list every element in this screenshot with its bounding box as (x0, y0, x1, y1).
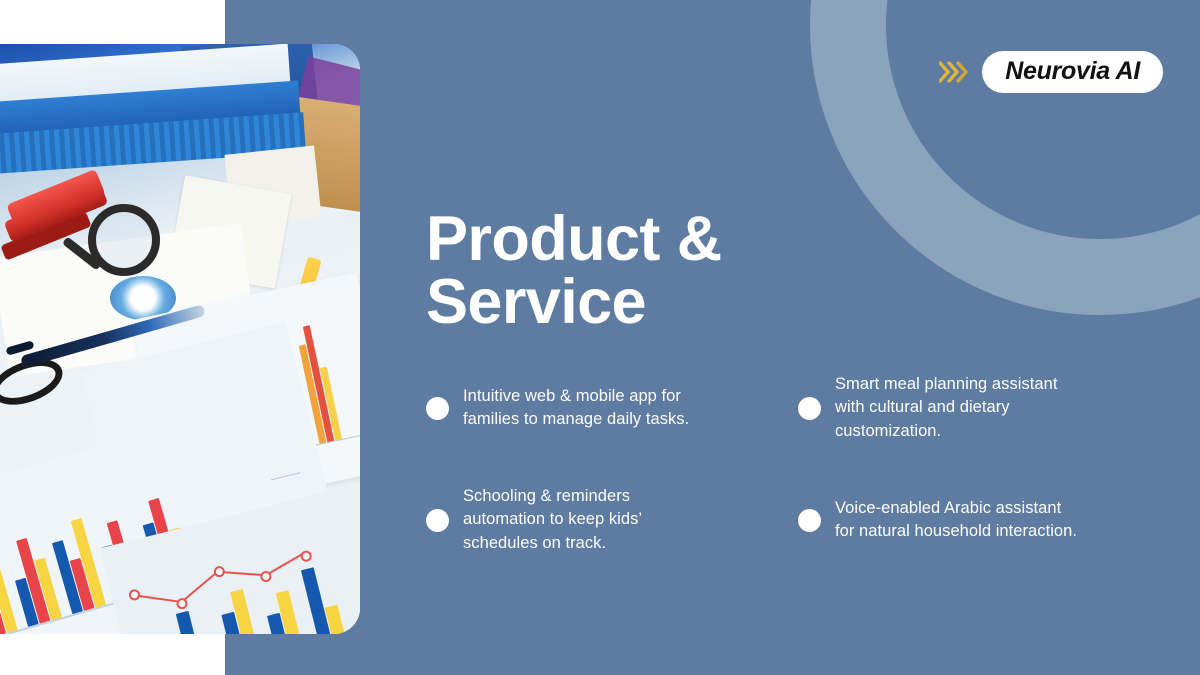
bullet-dot-icon (798, 509, 821, 532)
list-item-label: Smart meal planning assistant with cultu… (835, 373, 1085, 443)
list-item: Voice-enabled Arabic assistant for natur… (798, 464, 1106, 576)
corner-block-top-left (0, 0, 225, 44)
hero-photo-image (0, 44, 360, 634)
hero-photo (0, 44, 360, 634)
slide-root: Neurovia AI Product & Service Intuitive … (0, 0, 1200, 675)
list-item: Schooling & reminders automation to keep… (426, 464, 798, 576)
bullet-dot-icon (798, 397, 821, 420)
bullet-dot-icon (426, 397, 449, 420)
list-item-label: Voice-enabled Arabic assistant for natur… (835, 497, 1085, 544)
double-chevron-right-icon (939, 61, 969, 83)
corner-block-bottom-left (0, 634, 225, 675)
brand-logo[interactable]: Neurovia AI (939, 51, 1163, 93)
bullet-dot-icon (426, 509, 449, 532)
page-title-line-2: Service (426, 271, 986, 334)
page-title-line-1: Product & (426, 208, 986, 271)
list-item-label: Intuitive web & mobile app for families … (463, 385, 713, 432)
list-item-label: Schooling & reminders automation to keep… (463, 485, 713, 555)
list-item: Smart meal planning assistant with cultu… (798, 352, 1106, 464)
list-item: Intuitive web & mobile app for families … (426, 352, 798, 464)
feature-list: Intuitive web & mobile app for families … (426, 352, 1106, 576)
brand-name: Neurovia AI (1005, 58, 1140, 84)
page-title: Product & Service (426, 208, 986, 334)
brand-pill: Neurovia AI (982, 51, 1163, 93)
